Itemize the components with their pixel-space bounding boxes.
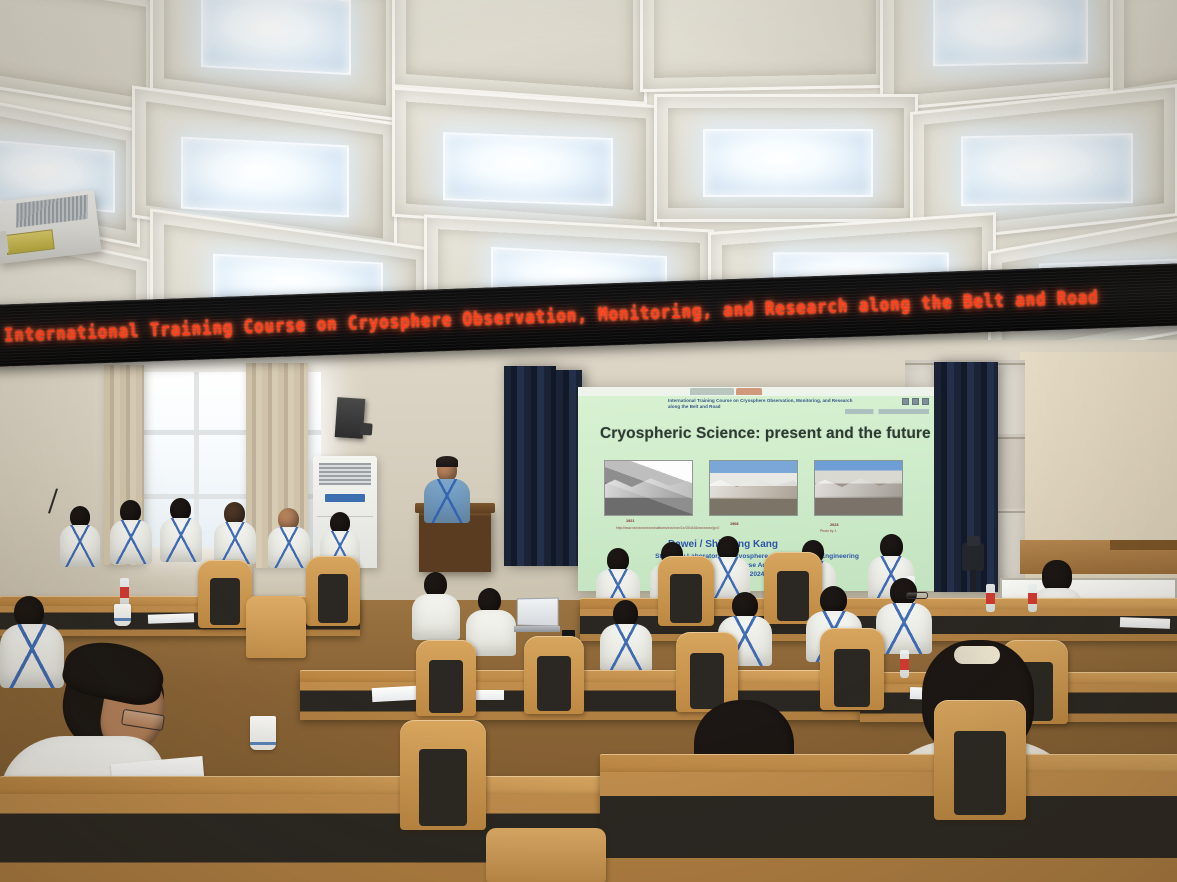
glacier-photo bbox=[814, 460, 903, 516]
hair-ornament bbox=[954, 646, 1000, 664]
close-icon[interactable] bbox=[922, 398, 929, 405]
ceiling-light-panel bbox=[443, 132, 613, 206]
ceiling-light-panel bbox=[703, 129, 873, 197]
presenter bbox=[424, 458, 470, 520]
glacier-photo-row bbox=[604, 460, 904, 518]
address-bar[interactable] bbox=[845, 409, 929, 414]
attendee-with-laptop bbox=[466, 588, 516, 654]
ceiling-light-panel bbox=[201, 0, 351, 75]
slide-title: Cryospheric Science: present and the fut… bbox=[600, 425, 931, 443]
attendee bbox=[412, 572, 460, 638]
chair bbox=[524, 636, 584, 714]
photo-caption: 2023 bbox=[830, 523, 838, 527]
projector-vent bbox=[16, 195, 88, 228]
laptop[interactable] bbox=[517, 597, 559, 626]
glasses bbox=[906, 592, 928, 599]
chair bbox=[486, 828, 606, 882]
photo-caption: 1968 bbox=[730, 522, 738, 526]
photo-caption: 1921 bbox=[626, 519, 634, 523]
laptop-base[interactable] bbox=[514, 626, 560, 632]
photo-caption-sub: Photo by J. bbox=[820, 529, 837, 533]
water-bottle bbox=[1028, 584, 1037, 612]
ceiling-light-panel bbox=[181, 137, 349, 218]
paper-cup bbox=[250, 716, 276, 750]
projector bbox=[0, 190, 101, 264]
ceiling-light-panel bbox=[961, 133, 1133, 206]
chair bbox=[658, 556, 714, 626]
stage-curtain bbox=[504, 366, 556, 566]
slide-header-text: International Training Course on Cryosph… bbox=[668, 398, 863, 410]
video-camera bbox=[962, 543, 984, 571]
window-controls[interactable] bbox=[902, 398, 929, 405]
attendee bbox=[110, 500, 152, 562]
minimize-icon[interactable] bbox=[902, 398, 909, 405]
chair bbox=[820, 628, 884, 710]
attendee bbox=[160, 498, 202, 560]
ceiling-coffer bbox=[654, 94, 918, 222]
water-bottle bbox=[120, 578, 129, 606]
chair bbox=[246, 596, 306, 658]
attendee bbox=[268, 508, 310, 566]
conference-hall-photo: International Training Course on Cryosph… bbox=[0, 0, 1177, 882]
chair bbox=[400, 720, 486, 830]
ceiling-coffer bbox=[392, 87, 660, 236]
maximize-icon[interactable] bbox=[912, 398, 919, 405]
glacier-photo bbox=[709, 460, 798, 516]
water-bottle bbox=[986, 584, 995, 612]
attendee bbox=[214, 502, 256, 562]
chair bbox=[198, 560, 252, 628]
attendee bbox=[60, 506, 100, 566]
wall-speaker bbox=[335, 397, 366, 439]
chair bbox=[306, 556, 360, 626]
desk bbox=[600, 754, 1177, 774]
presenter-hair bbox=[436, 456, 458, 467]
presenter-body bbox=[424, 479, 470, 523]
ceiling-coffer bbox=[640, 0, 890, 92]
browser-tab bbox=[736, 388, 762, 395]
projector-label bbox=[5, 229, 55, 255]
slide-source-url: http://www.xxxxxxxxxxxxxx/albums/xxx/xxx… bbox=[616, 526, 719, 530]
lanyard bbox=[424, 479, 470, 523]
desk-front bbox=[600, 772, 1177, 882]
ceiling-light-panel bbox=[933, 0, 1088, 66]
document bbox=[148, 613, 194, 624]
attendee bbox=[600, 600, 652, 670]
browser-tab bbox=[690, 388, 734, 395]
chair bbox=[934, 700, 1026, 820]
chair bbox=[416, 640, 476, 716]
glacier-photo bbox=[604, 460, 693, 516]
document bbox=[1120, 617, 1170, 629]
paper-cup bbox=[114, 604, 131, 626]
wall-wood-trim bbox=[1110, 540, 1177, 550]
